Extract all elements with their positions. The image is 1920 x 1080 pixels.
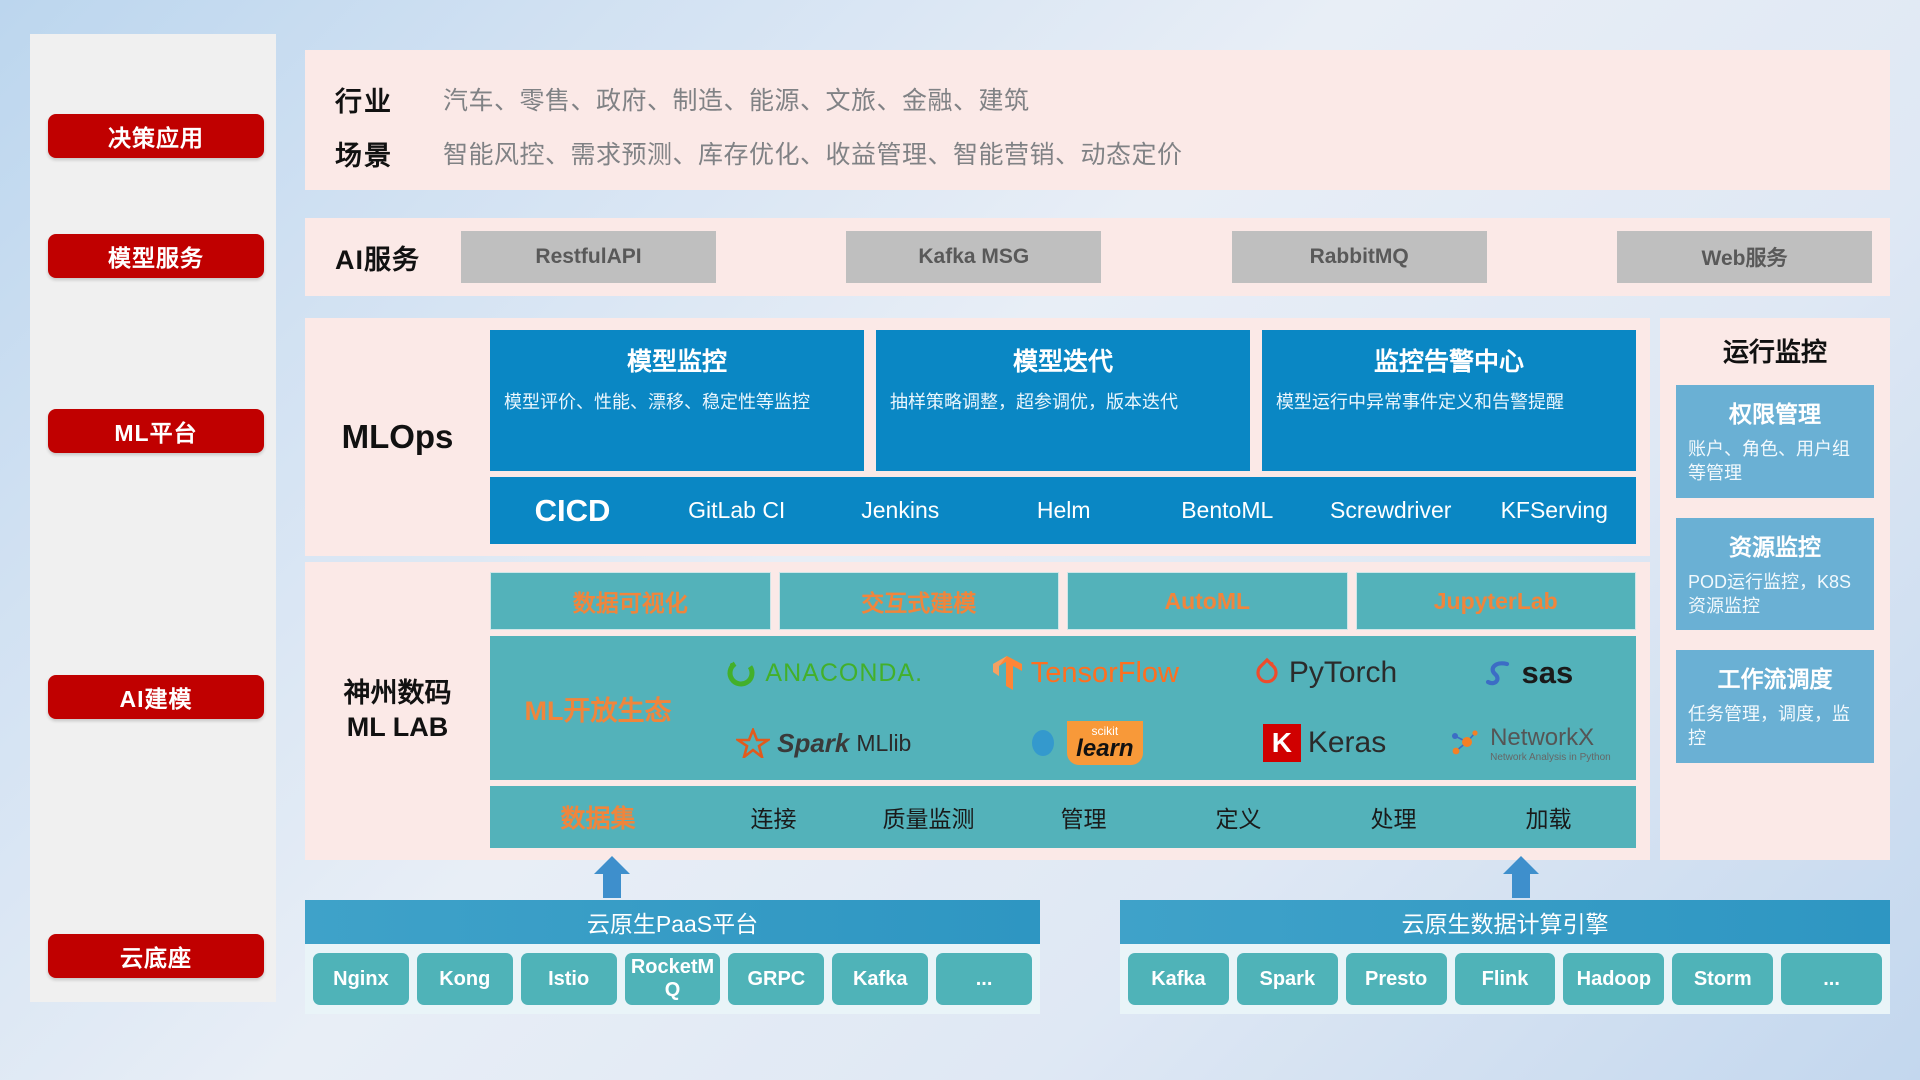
- scenario-label: 场景: [335, 134, 443, 173]
- pytorch-logo-text: PyTorch: [1289, 656, 1397, 690]
- card-desc: 账户、角色、用户组等管理: [1688, 437, 1862, 486]
- ml-lab-content: 数据可视化 交互式建模 AutoML JupyterLab ML开放生态 ANA…: [490, 562, 1650, 860]
- sidebar-item-model-service[interactable]: 模型服务: [48, 234, 264, 278]
- ml-lab-panel: 神州数码 ML LAB 数据可视化 交互式建模 AutoML JupyterLa…: [305, 562, 1650, 860]
- cloud-paas-title: 云原生PaaS平台: [305, 900, 1040, 944]
- sas-logo: sas: [1432, 655, 1626, 691]
- main-column: 行业 汽车、零售、政府、制造、能源、文旅、金融、建筑 场景 智能风控、需求预测、…: [305, 0, 1890, 1080]
- sidebar-item-cloud-base[interactable]: 云底座: [48, 934, 264, 978]
- cicd-item[interactable]: Jenkins: [819, 494, 983, 527]
- left-layer-rail: 决策应用 模型服务 ML平台 AI建模: [30, 34, 276, 1002]
- cloud-data-engine-title: 云原生数据计算引擎: [1120, 900, 1890, 944]
- mllib-logo-text: MLlib: [856, 730, 911, 757]
- up-arrow-icon: [1499, 854, 1543, 898]
- tech-chip-nginx[interactable]: Nginx: [313, 953, 409, 1005]
- cicd-item[interactable]: Screwdriver: [1309, 494, 1473, 527]
- networkx-subtitle: Network Analysis in Python: [1490, 752, 1611, 763]
- dataset-item[interactable]: 质量监测: [851, 800, 1006, 834]
- sidebar-item-label: 云底座: [120, 939, 192, 973]
- card-desc: POD运行监控，K8S资源监控: [1688, 570, 1862, 619]
- tech-chip-flink[interactable]: Flink: [1455, 953, 1556, 1005]
- ml-lab-label: 神州数码 ML LAB: [305, 562, 490, 860]
- card-desc: 模型评价、性能、漂移、稳定性等监控: [504, 390, 850, 414]
- keras-logo-text: Keras: [1308, 726, 1386, 760]
- ecosystem-logo-row-1: ANACONDA. TensorFlow PyTorch: [696, 639, 1626, 707]
- card-desc: 模型运行中异常事件定义和告警提醒: [1276, 390, 1622, 414]
- card-desc: 抽样策略调整，超参调优，版本迭代: [890, 390, 1236, 414]
- lab-tool-data-viz[interactable]: 数据可视化: [490, 572, 771, 630]
- monitoring-card-permission[interactable]: 权限管理 账户、角色、用户组等管理: [1676, 385, 1874, 498]
- tensorflow-logo-text: TensorFlow: [1031, 657, 1179, 690]
- dataset-label: 数据集: [500, 799, 696, 835]
- tech-chip-grpc[interactable]: GRPC: [728, 953, 824, 1005]
- cicd-item[interactable]: Helm: [982, 494, 1146, 527]
- ml-lab-label-line1: 神州数码: [344, 677, 452, 711]
- networkx-logo-text: NetworkX: [1490, 724, 1611, 752]
- sidebar-item-label: ML平台: [114, 414, 197, 448]
- mlops-card-model-iteration[interactable]: 模型迭代 抽样策略调整，超参调优，版本迭代: [876, 330, 1250, 471]
- cicd-item[interactable]: KFServing: [1473, 494, 1637, 527]
- industry-value: 汽车、零售、政府、制造、能源、文旅、金融、建筑: [443, 81, 1030, 117]
- lab-tool-jupyterlab[interactable]: JupyterLab: [1356, 572, 1637, 630]
- up-arrow-icon: [590, 854, 634, 898]
- cloud-data-engine-chip-group: Kafka Spark Presto Flink Hadoop Storm ..…: [1120, 944, 1890, 1014]
- mlops-label: MLOps: [305, 318, 490, 556]
- lab-tool-group: 数据可视化 交互式建模 AutoML JupyterLab: [490, 572, 1636, 630]
- sidebar-item-ml-platform[interactable]: ML平台: [48, 409, 264, 453]
- tensorflow-logo: TensorFlow: [952, 654, 1218, 692]
- industry-scenario-panel: 行业 汽车、零售、政府、制造、能源、文旅、金融、建筑 场景 智能风控、需求预测、…: [305, 50, 1890, 190]
- scikit-learn-badge: scikit learn: [1067, 721, 1142, 765]
- tech-chip-kong[interactable]: Kong: [417, 953, 513, 1005]
- scenario-line: 场景 智能风控、需求预测、库存优化、收益管理、智能营销、动态定价: [335, 126, 1890, 180]
- architecture-diagram: 决策应用 模型服务 ML平台 AI建模 云底座 行业 汽车、零售、政府、制造、能…: [0, 0, 1920, 1080]
- card-title: 模型监控: [504, 342, 850, 378]
- spark-mllib-logo: Spark MLlib: [696, 728, 952, 759]
- dataset-bar: 数据集 连接 质量监测 管理 定义 处理 加载: [490, 786, 1636, 848]
- networkx-text-group: NetworkX Network Analysis in Python: [1490, 724, 1611, 763]
- sidebar-item-label: 决策应用: [108, 119, 204, 153]
- anaconda-logo-text: ANACONDA.: [765, 659, 923, 688]
- dataset-item[interactable]: 处理: [1316, 800, 1471, 834]
- anaconda-logo: ANACONDA.: [696, 656, 952, 690]
- scenario-value: 智能风控、需求预测、库存优化、收益管理、智能营销、动态定价: [443, 135, 1183, 171]
- ml-lab-label-line2: ML LAB: [347, 711, 449, 745]
- monitoring-card-resource[interactable]: 资源监控 POD运行监控，K8S资源监控: [1676, 518, 1874, 631]
- tech-chip-kafka[interactable]: Kafka: [1128, 953, 1229, 1005]
- lab-tool-interactive-modeling[interactable]: 交互式建模: [779, 572, 1060, 630]
- dataset-item[interactable]: 管理: [1006, 800, 1161, 834]
- card-title: 监控告警中心: [1276, 342, 1622, 378]
- cloud-paas-chip-group: Nginx Kong Istio RocketMQ GRPC Kafka ...: [305, 944, 1040, 1014]
- tech-chip-presto[interactable]: Presto: [1346, 953, 1447, 1005]
- tech-chip-rocketmq[interactable]: RocketMQ: [625, 953, 721, 1005]
- ai-service-box[interactable]: RabbitMQ: [1232, 231, 1487, 283]
- ai-service-box[interactable]: RestfulAPI: [461, 231, 716, 283]
- runtime-monitoring-panel: 运行监控 权限管理 账户、角色、用户组等管理 资源监控 POD运行监控，K8S资…: [1660, 318, 1890, 860]
- tech-chip-kafka[interactable]: Kafka: [832, 953, 928, 1005]
- card-title: 权限管理: [1688, 395, 1862, 429]
- ml-ecosystem-logos: ANACONDA. TensorFlow PyTorch: [696, 639, 1626, 777]
- cicd-bar: CICD GitLab CI Jenkins Helm BentoML Scre…: [490, 477, 1636, 544]
- keras-mark: K: [1263, 724, 1301, 762]
- tech-chip-istio[interactable]: Istio: [521, 953, 617, 1005]
- sidebar-item-ai-modeling[interactable]: AI建模: [48, 675, 264, 719]
- spark-logo-text: Spark: [777, 728, 849, 759]
- tech-chip-spark[interactable]: Spark: [1237, 953, 1338, 1005]
- learn-text: learn: [1076, 738, 1133, 760]
- tech-chip-hadoop[interactable]: Hadoop: [1563, 953, 1664, 1005]
- keras-logo: K Keras: [1217, 724, 1432, 762]
- ai-service-panel: AI服务 RestfulAPI Kafka MSG RabbitMQ Web服务: [305, 218, 1890, 296]
- networkx-logo: NetworkX Network Analysis in Python: [1432, 724, 1626, 763]
- ml-ecosystem-band: ML开放生态 ANACONDA. TensorFlow: [490, 636, 1636, 780]
- monitoring-card-workflow[interactable]: 工作流调度 任务管理，调度，监控: [1676, 650, 1874, 763]
- card-title: 模型迭代: [890, 342, 1236, 378]
- sas-logo-text: sas: [1522, 655, 1574, 691]
- ecosystem-logo-row-2: Spark MLlib scikit learn: [696, 709, 1626, 777]
- pytorch-logo: PyTorch: [1217, 656, 1432, 690]
- scikit-learn-logo: scikit learn: [952, 721, 1218, 765]
- card-title: 资源监控: [1688, 528, 1862, 562]
- mlops-panel: MLOps 模型监控 模型评价、性能、漂移、稳定性等监控 模型迭代 抽样策略调整…: [305, 318, 1650, 556]
- mlops-card-model-monitoring[interactable]: 模型监控 模型评价、性能、漂移、稳定性等监控: [490, 330, 864, 471]
- ml-ecosystem-label: ML开放生态: [500, 689, 696, 728]
- dataset-item[interactable]: 加载: [1471, 800, 1626, 834]
- cloud-data-engine-section: 云原生数据计算引擎 Kafka Spark Presto Flink Hadoo…: [1120, 900, 1890, 1014]
- dataset-item-group: 连接 质量监测 管理 定义 处理 加载: [696, 800, 1626, 834]
- ai-service-box[interactable]: Web服务: [1617, 231, 1872, 283]
- lab-tool-automl[interactable]: AutoML: [1067, 572, 1348, 630]
- mlops-card-alert-center[interactable]: 监控告警中心 模型运行中异常事件定义和告警提醒: [1262, 330, 1636, 471]
- tech-chip-storm[interactable]: Storm: [1672, 953, 1773, 1005]
- cicd-item[interactable]: GitLab CI: [655, 494, 819, 527]
- ai-service-box-group: RestfulAPI Kafka MSG RabbitMQ Web服务: [443, 231, 1890, 283]
- cicd-item-group: GitLab CI Jenkins Helm BentoML Screwdriv…: [655, 494, 1636, 527]
- sidebar-item-decision-app[interactable]: 决策应用: [48, 114, 264, 158]
- cicd-title: CICD: [490, 493, 655, 529]
- ai-service-label: AI服务: [335, 238, 443, 277]
- card-title: 工作流调度: [1688, 660, 1862, 694]
- card-desc: 任务管理，调度，监控: [1688, 702, 1862, 751]
- mlops-card-group: 模型监控 模型评价、性能、漂移、稳定性等监控 模型迭代 抽样策略调整，超参调优，…: [490, 330, 1636, 471]
- mlops-content: 模型监控 模型评价、性能、漂移、稳定性等监控 模型迭代 抽样策略调整，超参调优，…: [490, 318, 1650, 556]
- tech-chip-more[interactable]: ...: [1781, 953, 1882, 1005]
- cicd-item[interactable]: BentoML: [1146, 494, 1310, 527]
- cloud-paas-section: 云原生PaaS平台 Nginx Kong Istio RocketMQ GRPC…: [305, 900, 1040, 1014]
- sidebar-item-label: 模型服务: [108, 239, 204, 273]
- sidebar-item-label: AI建模: [120, 680, 193, 714]
- dataset-item[interactable]: 连接: [696, 800, 851, 834]
- ai-service-box[interactable]: Kafka MSG: [846, 231, 1101, 283]
- industry-line: 行业 汽车、零售、政府、制造、能源、文旅、金融、建筑: [335, 72, 1890, 126]
- industry-label: 行业: [335, 80, 443, 119]
- dataset-item[interactable]: 定义: [1161, 800, 1316, 834]
- tech-chip-more[interactable]: ...: [936, 953, 1032, 1005]
- runtime-monitoring-title: 运行监控: [1676, 332, 1874, 369]
